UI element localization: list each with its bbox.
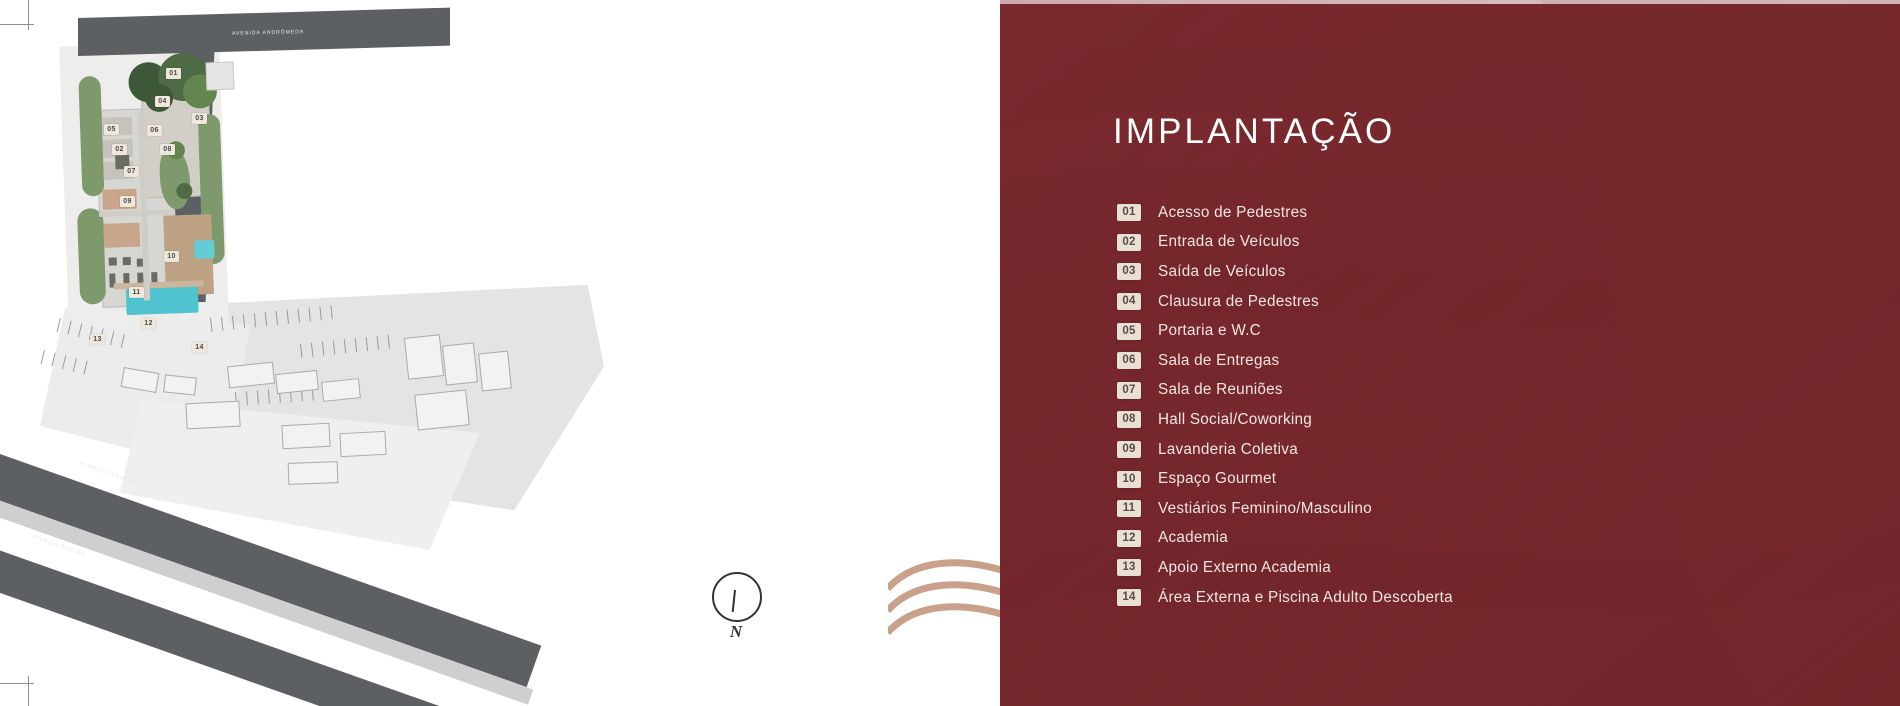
- legend-badge-01: 01: [1117, 204, 1141, 221]
- legend-label-06: Sala de Entregas: [1158, 352, 1279, 370]
- legend-badge-05: 05: [1117, 323, 1141, 340]
- legend-label-05: Portaria e W.C: [1158, 322, 1261, 340]
- legend-item-06[interactable]: 06 Sala de Entregas: [1117, 346, 1817, 376]
- map-marker-04[interactable]: 04: [155, 96, 170, 107]
- building-block: [339, 431, 386, 457]
- legend-badge-13: 13: [1117, 559, 1141, 576]
- building-block: [281, 423, 330, 449]
- legend-label-11: Vestiários Feminino/Masculino: [1158, 500, 1372, 518]
- map-marker-10[interactable]: 10: [164, 251, 179, 262]
- legend-label-03: Saída de Veículos: [1158, 263, 1286, 281]
- legend-badge-08: 08: [1117, 411, 1141, 428]
- building-block: [478, 351, 512, 392]
- map-marker-02[interactable]: 02: [112, 144, 127, 155]
- map-marker-08[interactable]: 08: [160, 144, 175, 155]
- satellite-block: [206, 62, 235, 91]
- legend-badge-07: 07: [1117, 382, 1141, 399]
- legend-item-04[interactable]: 04 Clausura de Pedestres: [1117, 287, 1817, 317]
- legend-badge-06: 06: [1117, 352, 1141, 369]
- legend-label-07: Sala de Reuniões: [1158, 381, 1283, 399]
- legend-label-12: Academia: [1158, 529, 1228, 547]
- legend-badge-04: 04: [1117, 293, 1141, 310]
- equipment: [123, 257, 131, 265]
- roof-unit: [103, 223, 140, 248]
- site-plan-pane: AVENIDA ANDRÔMEDA ALAMEDA CENTAURO AVENI…: [0, 0, 1000, 706]
- building-block: [288, 461, 339, 485]
- legend-item-02[interactable]: 02 Entrada de Veículos: [1117, 228, 1817, 258]
- building-block: [163, 374, 197, 395]
- legend-label-10: Espaço Gourmet: [1158, 470, 1276, 488]
- condominium-complex: [82, 54, 231, 309]
- legend-pane: IMPLANTAÇÃO 01 Acesso de Pedestres 02 En…: [1000, 0, 1900, 706]
- compass-rose: N: [706, 572, 766, 646]
- building-block: [442, 342, 478, 385]
- legend-item-07[interactable]: 07 Sala de Reuniões: [1117, 376, 1817, 406]
- legend-badge-03: 03: [1117, 263, 1141, 280]
- map-marker-09[interactable]: 09: [120, 196, 135, 207]
- legend-item-13[interactable]: 13 Apoio Externo Academia: [1117, 553, 1817, 583]
- legend-item-05[interactable]: 05 Portaria e W.C: [1117, 316, 1817, 346]
- legend-item-03[interactable]: 03 Saída de Veículos: [1117, 257, 1817, 287]
- legend-item-01[interactable]: 01 Acesso de Pedestres: [1117, 198, 1817, 228]
- equipment: [109, 257, 117, 265]
- legend-item-09[interactable]: 09 Lavanderia Coletiva: [1117, 435, 1817, 465]
- legend-badge-10: 10: [1117, 471, 1141, 488]
- map-marker-07[interactable]: 07: [124, 166, 139, 177]
- map-marker-14[interactable]: 14: [192, 342, 207, 353]
- jacuzzi: [194, 240, 215, 259]
- map-marker-05[interactable]: 05: [104, 124, 119, 135]
- legend-badge-14: 14: [1117, 589, 1141, 606]
- legend-label-13: Apoio Externo Academia: [1158, 559, 1331, 577]
- legend-item-11[interactable]: 11 Vestiários Feminino/Masculino: [1117, 494, 1817, 524]
- legend-label-01: Acesso de Pedestres: [1158, 204, 1307, 222]
- page-title: IMPLANTAÇÃO: [1113, 112, 1395, 152]
- legend-badge-09: 09: [1117, 441, 1141, 458]
- legend-item-14[interactable]: 14 Área Externa e Piscina Adulto Descobe…: [1117, 583, 1817, 613]
- green-belt: [78, 76, 104, 197]
- legend-item-10[interactable]: 10 Espaço Gourmet: [1117, 464, 1817, 494]
- map-marker-12[interactable]: 12: [141, 318, 156, 329]
- map-marker-06[interactable]: 06: [147, 125, 162, 136]
- map-marker-01[interactable]: 01: [166, 68, 181, 79]
- legend-badge-02: 02: [1117, 234, 1141, 251]
- building-block: [414, 389, 469, 430]
- green-belt: [77, 208, 106, 305]
- legend-badge-12: 12: [1117, 530, 1141, 547]
- map-marker-13[interactable]: 13: [90, 334, 105, 345]
- wave-decoration-icon: [888, 556, 1000, 642]
- compass-ring-icon: [712, 572, 762, 622]
- building-block: [321, 378, 361, 402]
- legend-label-08: Hall Social/Coworking: [1158, 411, 1312, 429]
- map-marker-11[interactable]: 11: [129, 287, 144, 298]
- map-marker-03[interactable]: 03: [192, 113, 207, 124]
- building-block: [185, 401, 240, 430]
- legend-label-04: Clausura de Pedestres: [1158, 293, 1319, 311]
- compass-north-label: N: [706, 622, 766, 642]
- legend-item-08[interactable]: 08 Hall Social/Coworking: [1117, 405, 1817, 435]
- legend-badge-11: 11: [1117, 500, 1141, 517]
- legend-label-14: Área Externa e Piscina Adulto Descoberta: [1158, 589, 1453, 607]
- site-plan-terrain: AVENIDA ANDRÔMEDA ALAMEDA CENTAURO AVENI…: [0, 0, 1000, 706]
- legend-item-12[interactable]: 12 Academia: [1117, 524, 1817, 554]
- building-block: [404, 334, 444, 380]
- legend-label-09: Lavanderia Coletiva: [1158, 441, 1298, 459]
- legend-list: 01 Acesso de Pedestres 02 Entrada de Veí…: [1117, 198, 1817, 612]
- legend-label-02: Entrada de Veículos: [1158, 233, 1300, 251]
